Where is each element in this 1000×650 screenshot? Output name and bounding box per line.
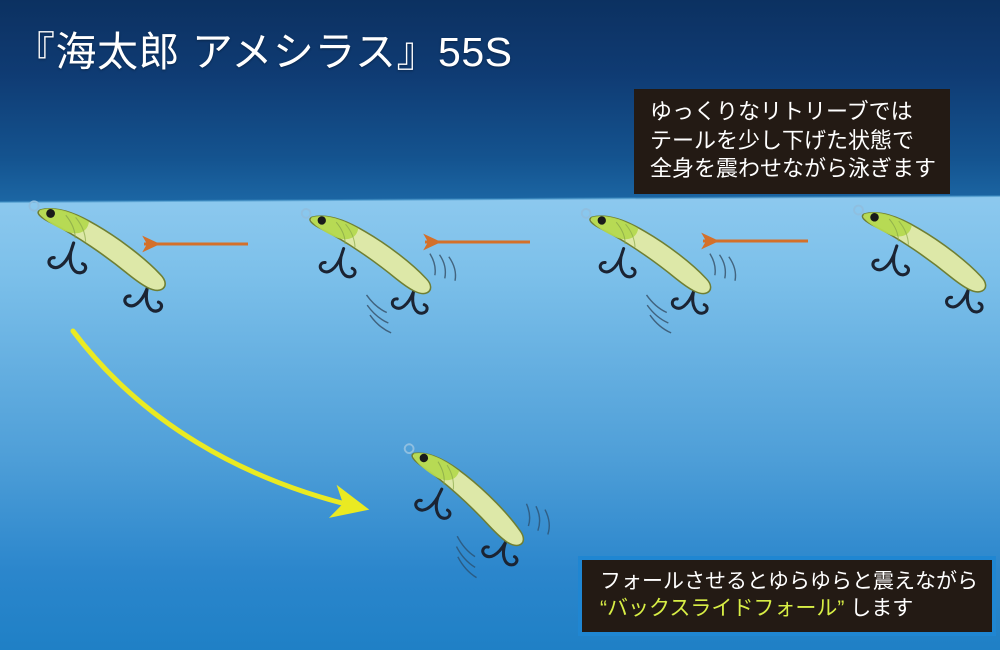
- caption-bottom-tail: します: [844, 597, 913, 620]
- caption-top-line-1: ゆっくりなリトリーブでは: [650, 98, 936, 127]
- lure-eyelet-icon: [28, 200, 40, 212]
- caption-top-line-2: テールを少し下げた状態で: [650, 127, 936, 156]
- caption-top-line-3: 全身を震わせながら泳ぎます: [650, 155, 936, 184]
- lure-eyelet-icon: [853, 204, 864, 215]
- backslide-fall-path-arrow: [73, 331, 362, 508]
- caption-top: ゆっくりなリトリーブでは テールを少し下げた状態で 全身を震わせながら泳ぎます: [634, 89, 950, 194]
- lure-eyelet-icon: [581, 208, 592, 219]
- lure-eyelet-icon: [301, 208, 312, 219]
- caption-bottom-highlight: “バックスライドフォール”: [600, 597, 844, 620]
- illustration-canvas: 『海太郎 アメシラス』55S: [0, 0, 1000, 650]
- caption-bottom: フォールさせるとゆらゆらと震えながら “バックスライドフォール” します: [578, 556, 996, 636]
- lure-eyelet-icon: [403, 443, 415, 455]
- caption-bottom-line-2: “バックスライドフォール” します: [600, 595, 978, 622]
- caption-bottom-line-1: フォールさせるとゆらゆらと震えながら: [600, 568, 978, 595]
